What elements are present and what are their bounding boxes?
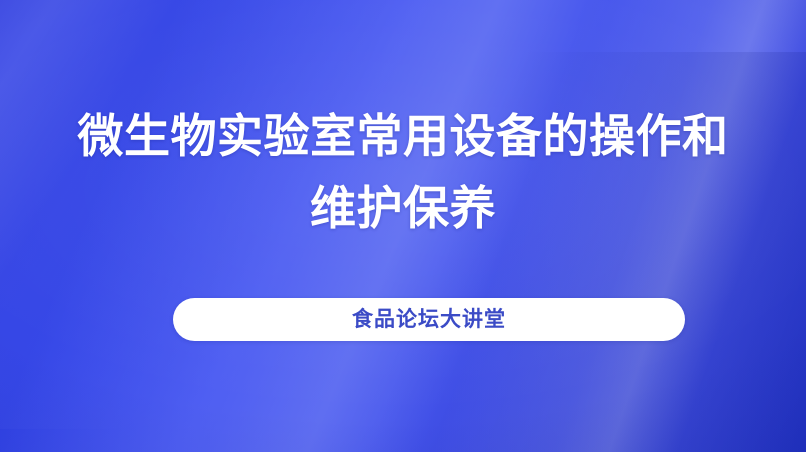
slide-content: 微生物实验室常用设备的操作和 维护保养 食品论坛大讲堂 [0, 0, 806, 452]
title-slide: 微生物实验室常用设备的操作和 维护保养 食品论坛大讲堂 [0, 0, 806, 452]
title-line-2: 维护保养 [0, 172, 806, 244]
badge-label: 食品论坛大讲堂 [352, 309, 506, 330]
badge-pill: 食品论坛大讲堂 [173, 298, 685, 341]
title-line-1: 微生物实验室常用设备的操作和 [0, 100, 806, 172]
slide-title: 微生物实验室常用设备的操作和 维护保养 [0, 100, 806, 244]
